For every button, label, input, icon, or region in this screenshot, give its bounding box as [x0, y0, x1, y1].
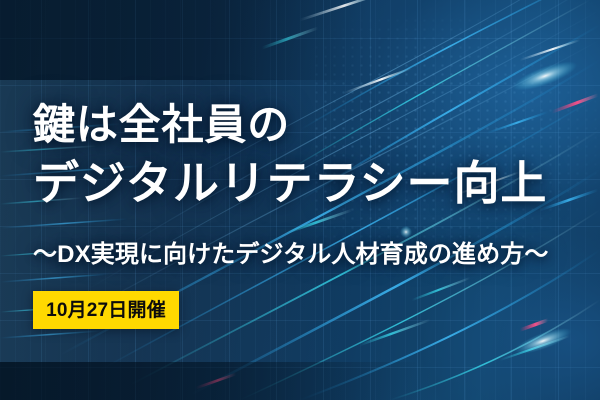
seminar-banner: 鍵は全社員の デジタルリテラシー向上 〜DX実現に向けたデジタル人材育成の進め方…: [0, 0, 600, 400]
headline-line-2: デジタルリテラシー向上: [33, 160, 547, 206]
banner-content: 鍵は全社員の デジタルリテラシー向上 〜DX実現に向けたデジタル人材育成の進め方…: [0, 0, 600, 400]
subheadline: 〜DX実現に向けたデジタル人材育成の進め方〜: [33, 234, 549, 269]
headline-line-1: 鍵は全社員の: [33, 104, 290, 146]
date-badge-label: 10月27日開催: [46, 301, 166, 320]
date-badge: 10月27日開催: [33, 291, 179, 329]
